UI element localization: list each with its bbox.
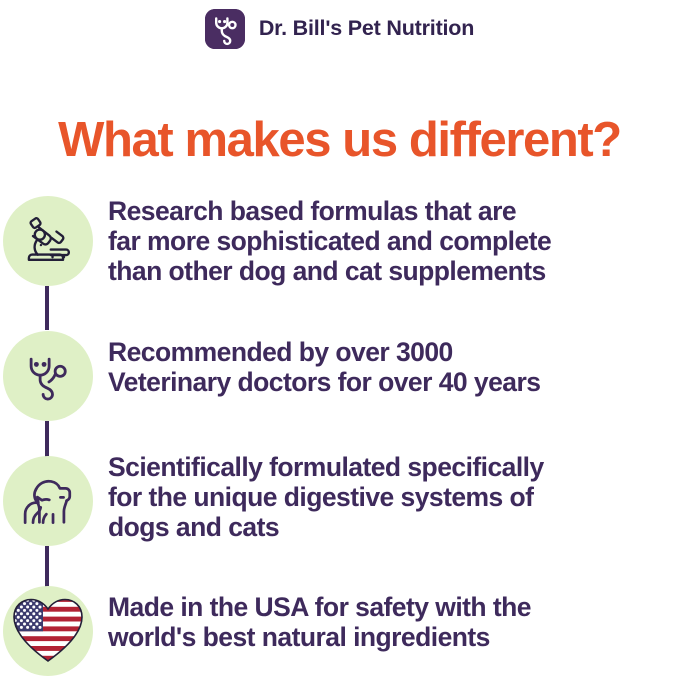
list-item-label: Scientifically formulated specifically f…	[108, 448, 679, 542]
stethoscope-face-icon	[3, 331, 93, 421]
list-item: Recommended by over 3000 Veterinary doct…	[0, 323, 679, 421]
feature-list: Research based formulas that are far mor…	[0, 180, 679, 689]
dog-and-cat-icon	[3, 456, 93, 546]
list-item: Scientifically formulated specifically f…	[0, 448, 679, 546]
feature-icon-column	[0, 448, 108, 546]
feature-icon-column	[0, 323, 108, 421]
promo-page: Dr. Bill's Pet Nutrition What makes us d…	[0, 0, 679, 689]
brand-header: Dr. Bill's Pet Nutrition	[0, 6, 679, 52]
brand-name: Dr. Bill's Pet Nutrition	[259, 18, 474, 40]
list-item-label: Research based formulas that are far mor…	[108, 188, 679, 286]
list-item: Made in the USA for safety with the worl…	[0, 578, 679, 676]
page-title: What makes us different?	[0, 115, 679, 167]
list-item-label: Made in the USA for safety with the worl…	[108, 578, 679, 652]
stethoscope-pet-face-icon	[205, 9, 245, 49]
list-item: Research based formulas that are far mor…	[0, 188, 679, 286]
usa-flag-heart-icon	[3, 586, 93, 676]
feature-icon-column	[0, 578, 108, 676]
feature-icon-column	[0, 188, 108, 286]
microscope-icon	[3, 196, 93, 286]
list-item-label: Recommended by over 3000 Veterinary doct…	[108, 323, 679, 397]
